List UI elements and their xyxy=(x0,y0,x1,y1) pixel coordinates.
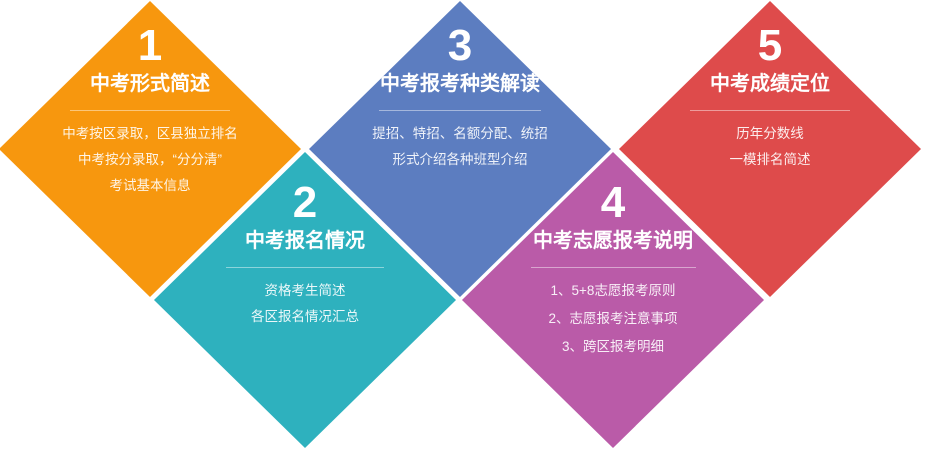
diamond-step-4-line-1: 1、5+8志愿报考原则 xyxy=(548,282,677,299)
diamond-step-4-line-2: 2、志愿报考注意事项 xyxy=(548,310,677,327)
diamond-step-5-lines: 历年分数线 一模排名简述 xyxy=(730,125,811,168)
diamond-step-3-number: 3 xyxy=(448,23,472,69)
diamond-step-4-lines: 1、5+8志愿报考原则 2、志愿报考注意事项 3、跨区报考明细 xyxy=(548,282,677,355)
diamond-step-4-divider xyxy=(531,267,696,268)
diamond-step-2-divider xyxy=(226,267,384,268)
diamond-step-5-divider xyxy=(690,110,850,111)
diamond-step-3-line-2: 形式介绍各种班型介绍 xyxy=(372,151,548,168)
diamond-step-1-number: 1 xyxy=(138,23,162,69)
diamond-step-1-line-2: 中考按分录取，“分分清” xyxy=(62,151,238,168)
diamond-step-2-lines: 资格考生简述 各区报名情况汇总 xyxy=(251,282,359,325)
diamond-step-1-line-3: 考试基本信息 xyxy=(62,177,238,194)
diamond-step-1-divider xyxy=(70,110,230,111)
diamond-step-2-number: 2 xyxy=(293,180,317,226)
diamond-step-3-divider xyxy=(379,110,541,111)
diamond-step-2-line-1: 资格考生简述 xyxy=(251,282,359,299)
diamond-step-4-title: 中考志愿报考说明 xyxy=(533,228,693,254)
diamond-step-3-lines: 提招、特招、名额分配、统招 形式介绍各种班型介绍 xyxy=(372,125,548,168)
diamond-step-4-number: 4 xyxy=(601,180,625,226)
diamond-step-5-line-2: 一模排名简述 xyxy=(730,151,811,168)
diamond-step-1-lines: 中考按区录取，区县独立排名 中考按分录取，“分分清” 考试基本信息 xyxy=(62,125,238,194)
diamond-step-3-title: 中考报考种类解读 xyxy=(380,71,540,97)
diamond-infographic: 1 中考形式简述 中考按区录取，区县独立排名 中考按分录取，“分分清” 考试基本… xyxy=(0,0,925,452)
diamond-step-3-line-1: 提招、特招、名额分配、统招 xyxy=(372,125,548,142)
diamond-step-5-number: 5 xyxy=(758,23,782,69)
diamond-step-1-line-1: 中考按区录取，区县独立排名 xyxy=(62,125,238,142)
diamond-step-4-line-3: 3、跨区报考明细 xyxy=(548,338,677,355)
diamond-step-1-title: 中考形式简述 xyxy=(90,71,210,97)
diamond-step-5-line-1: 历年分数线 xyxy=(730,125,811,142)
diamond-step-5-title: 中考成绩定位 xyxy=(710,71,830,97)
diamond-step-2-title: 中考报名情况 xyxy=(245,228,365,254)
diamond-step-2-line-2: 各区报名情况汇总 xyxy=(251,308,359,325)
